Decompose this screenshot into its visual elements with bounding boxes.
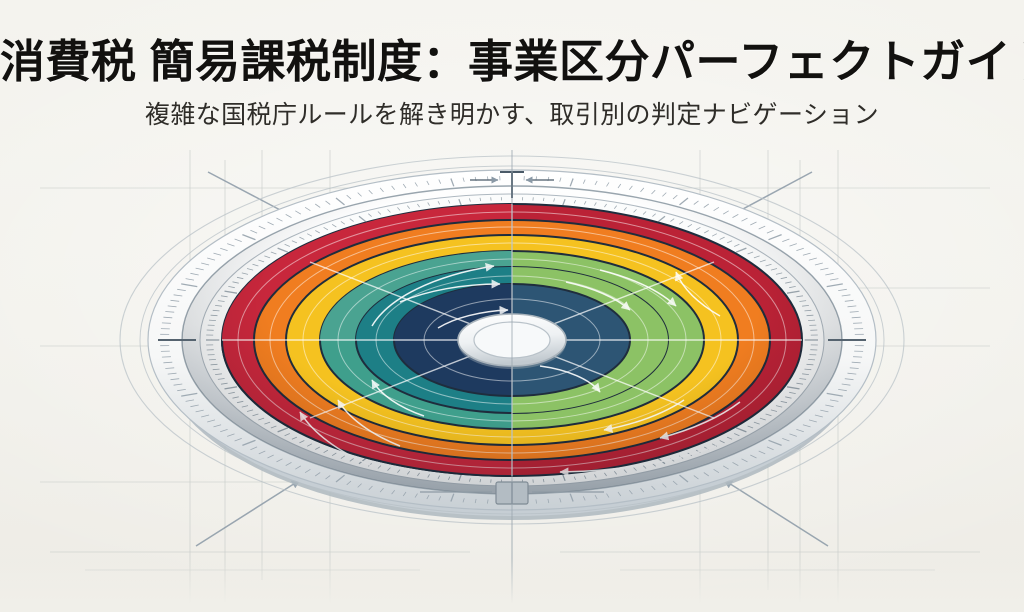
- illustration-container: [0, 150, 1024, 612]
- dial-disc: [120, 150, 904, 612]
- concentric-ring-diagram: [0, 150, 1024, 612]
- page-subtitle: 複雑な国税庁ルールを解き明かす、取引別の判定ナビゲーション: [0, 102, 1024, 130]
- page-title: 消費税 簡易課税制度：事業区分パーフェクトガイド: [0, 38, 1024, 86]
- hero-header: 消費税 簡易課税制度：事業区分パーフェクトガイド 複雑な国税庁ルールを解き明かす…: [0, 0, 1024, 129]
